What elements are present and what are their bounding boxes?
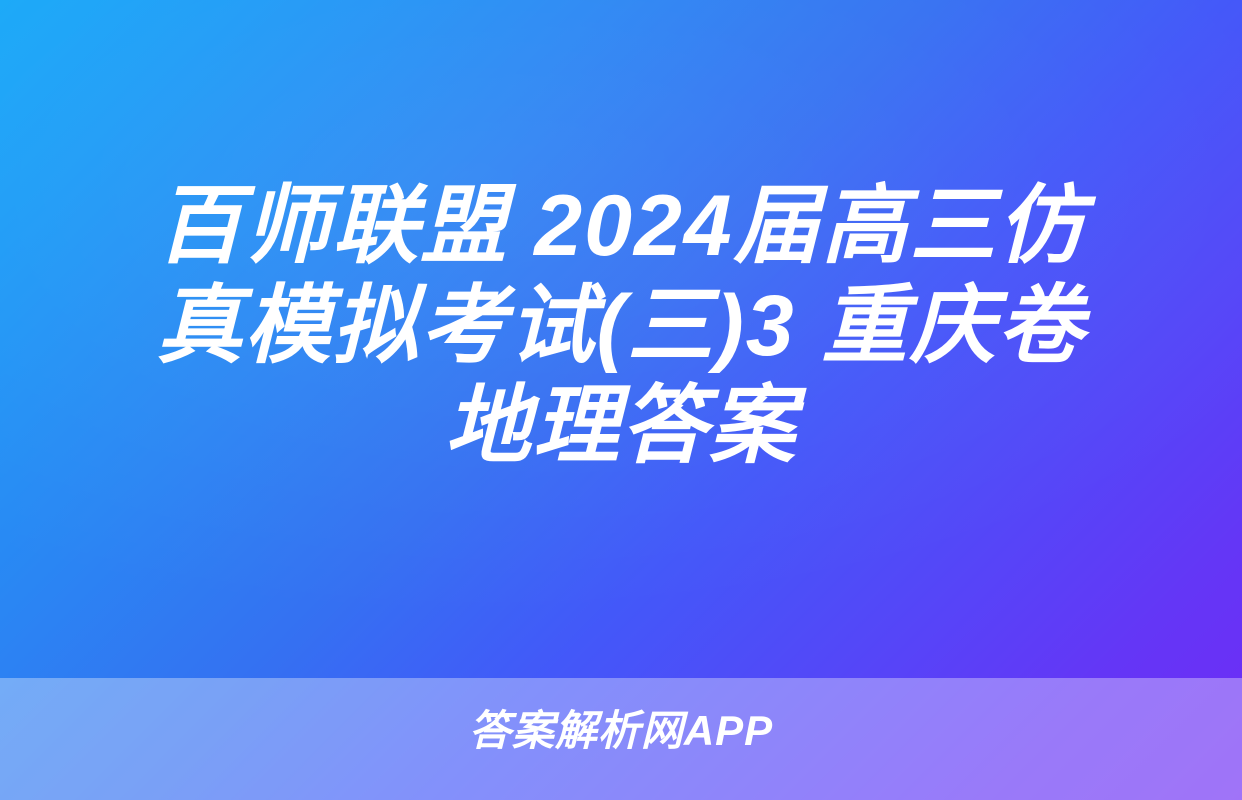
app-watermark-label: 答案解析网APP xyxy=(469,706,773,756)
poster-title: 百师联盟 2024届高三仿 真模拟考试(三)3 重庆卷 地理答案 xyxy=(0,176,1242,476)
title-line-1: 百师联盟 2024届高三仿 xyxy=(28,176,1214,276)
footer-band-inner: 答案解析网APP xyxy=(0,706,1242,756)
title-line-3: 地理答案 xyxy=(28,376,1214,476)
poster-canvas: 百师联盟 2024届高三仿 真模拟考试(三)3 重庆卷 地理答案 答案解析网AP… xyxy=(0,0,1242,800)
footer-band: 答案解析网APP xyxy=(0,678,1242,800)
title-line-2: 真模拟考试(三)3 重庆卷 xyxy=(28,276,1214,376)
